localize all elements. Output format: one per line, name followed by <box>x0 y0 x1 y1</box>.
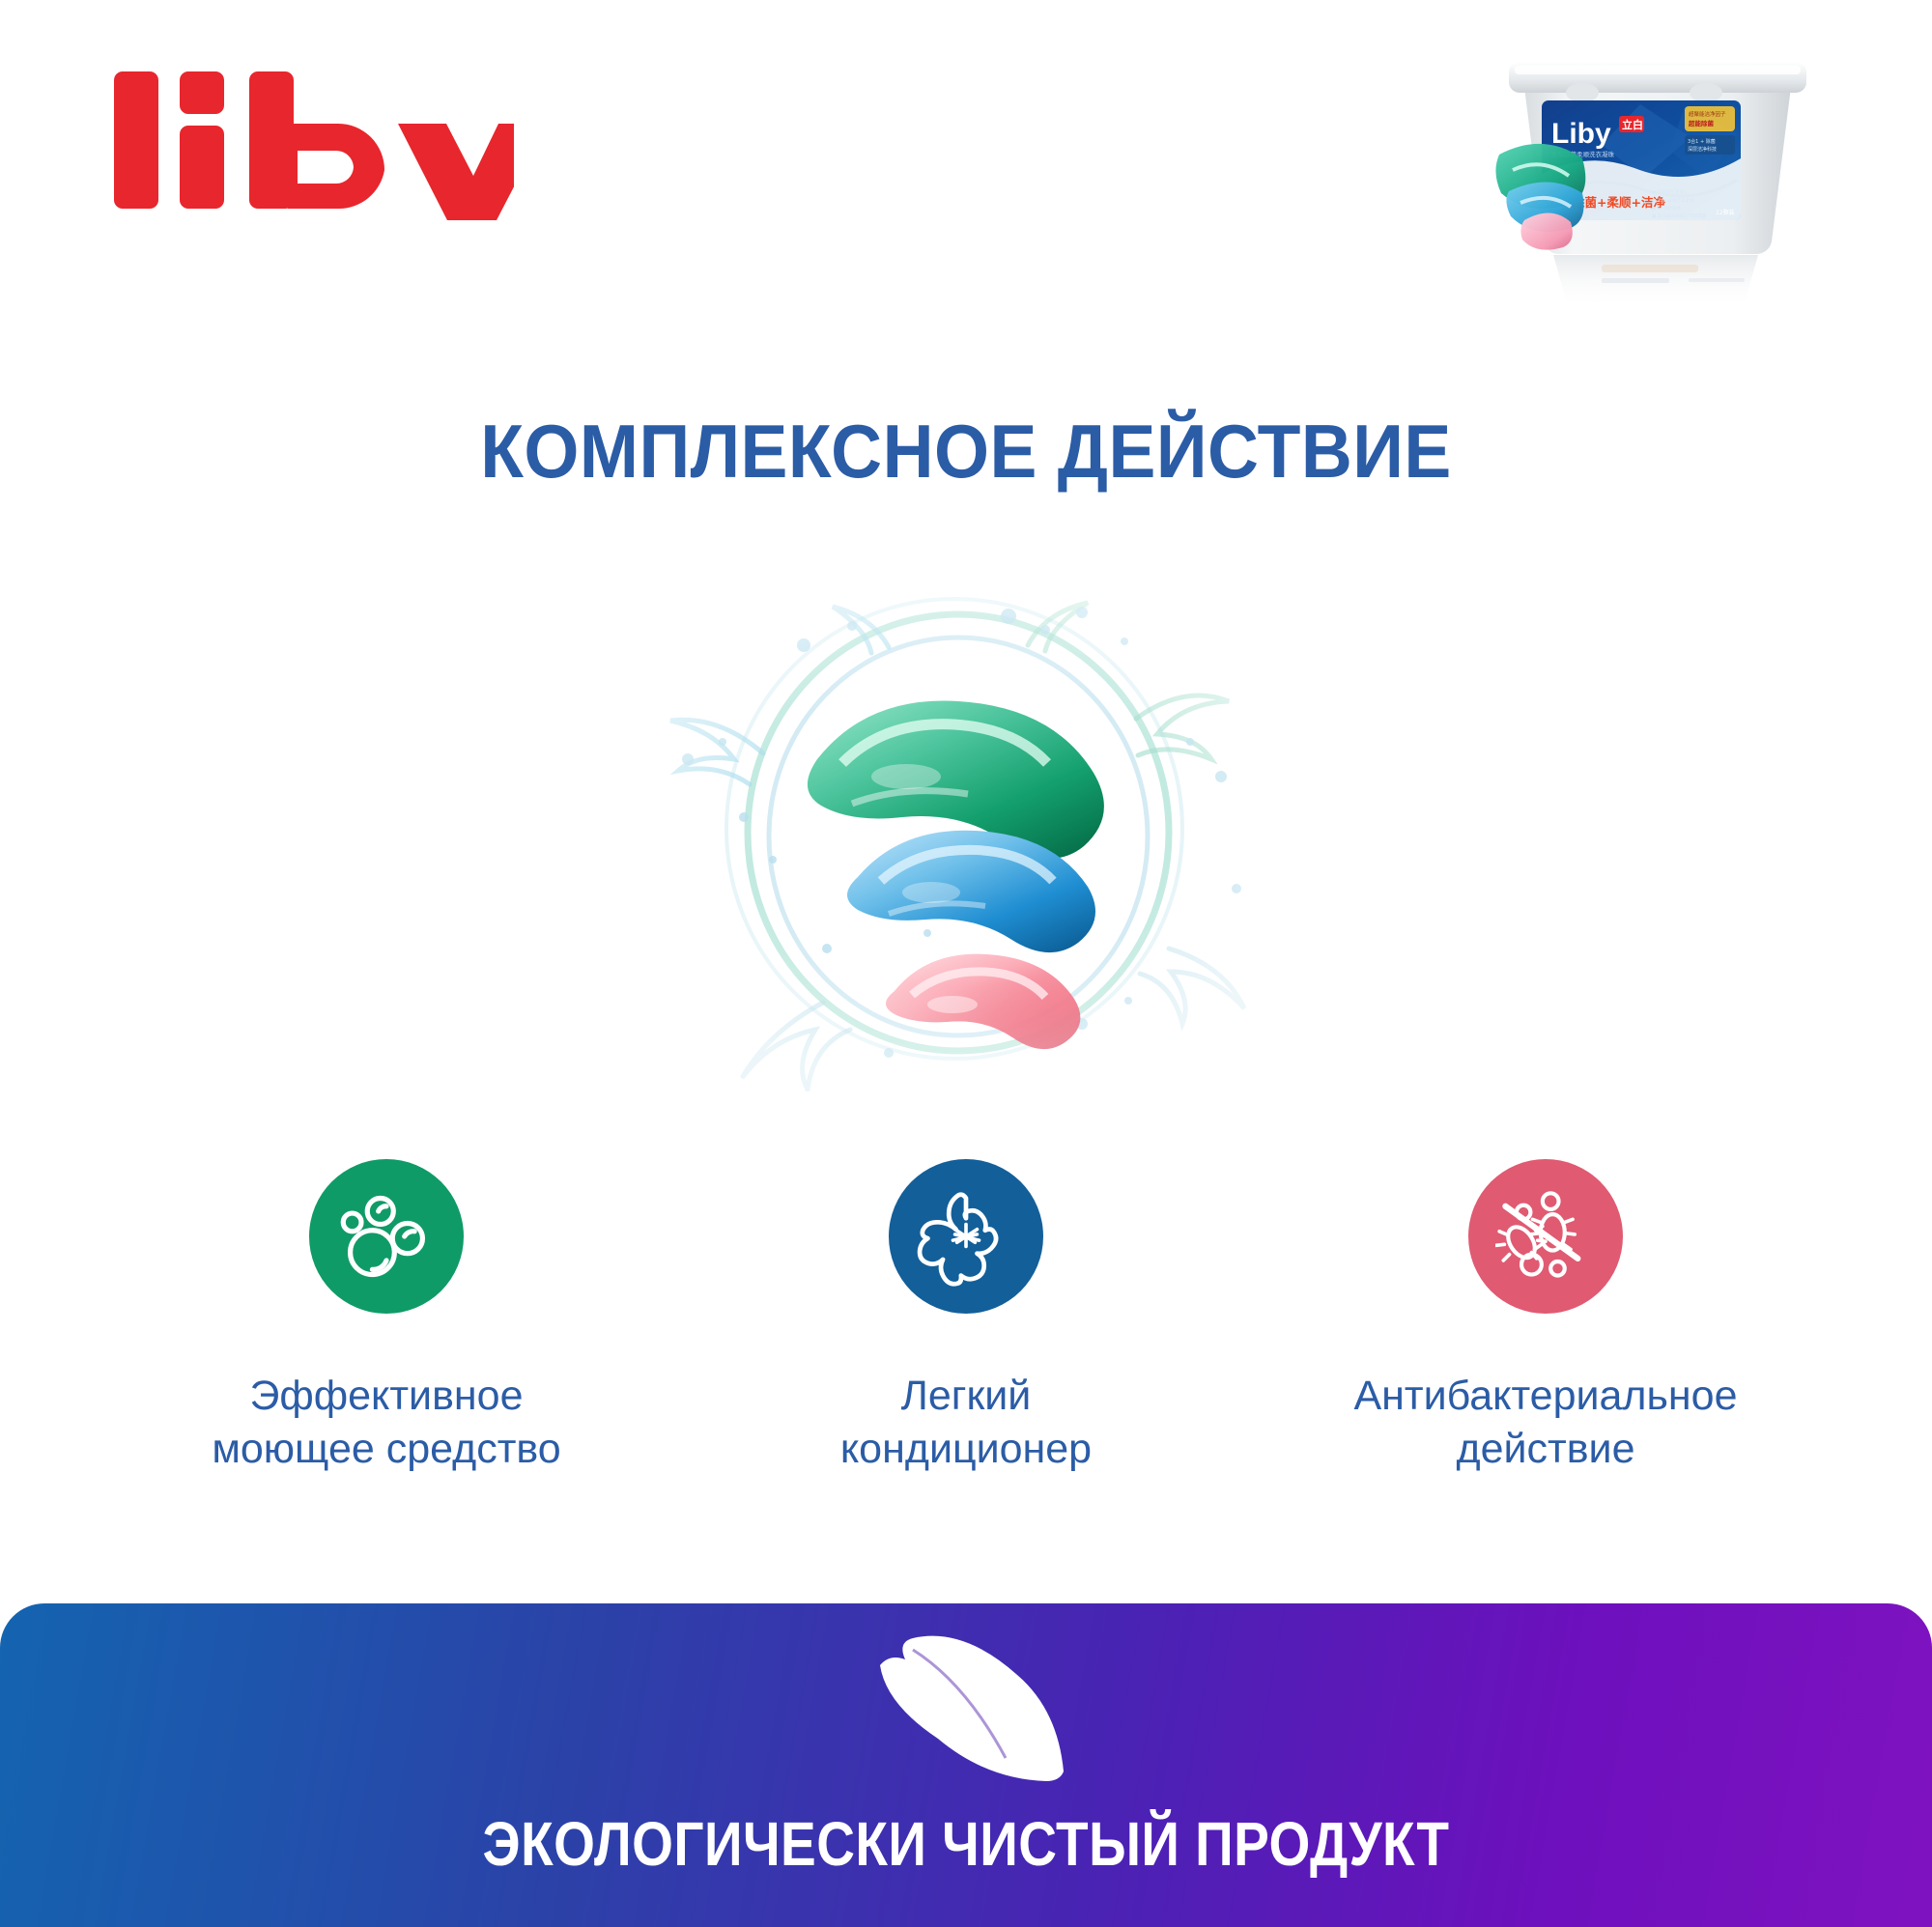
svg-text:超聚能洁净因子: 超聚能洁净因子 <box>1689 110 1726 118</box>
bubbles-icon <box>336 1186 437 1287</box>
tub-front-pods <box>1495 144 1585 250</box>
flower-icon-circle <box>889 1159 1043 1314</box>
hero-pods-splash-image <box>599 570 1314 1091</box>
svg-text:深层洁净科技: 深层洁净科技 <box>1688 146 1717 153</box>
tub-label-cn-brand: 立白 <box>1622 118 1643 131</box>
feature-label-antibacterial: Антибактериальное действие <box>1353 1370 1737 1476</box>
leaf-icon <box>865 1625 1067 1803</box>
flower-icon <box>916 1186 1016 1287</box>
svg-text:■ 3合1凝珠洁净柔顺: ■ 3合1凝珠洁净柔顺 <box>1652 197 1694 204</box>
feature-item-antibacterial: Антибактериальное действие <box>1275 1159 1816 1476</box>
svg-text:3合1 + 除菌: 3合1 + 除菌 <box>1688 138 1716 145</box>
feature-label-conditioner: Легкий кондиционер <box>840 1370 1092 1476</box>
no-bacteria-icon <box>1495 1186 1596 1287</box>
tub-label-brand: Liby <box>1551 118 1611 150</box>
feature-list: Эффективное моющее средство <box>116 1159 1816 1476</box>
infographic-page: Liby 立白 香味除菌柔顺洗衣凝珠 超聚能洁净因子 超能除菌 3合1 + 除菌… <box>0 0 1932 1927</box>
product-tub-image: Liby 立白 香味除菌柔顺洗衣凝珠 超聚能洁净因子 超能除菌 3合1 + 除菌… <box>1495 46 1824 336</box>
feature-item-conditioner: Легкий кондиционер <box>696 1159 1236 1476</box>
svg-text:■ 高浓缩浓缩配方节约用量: ■ 高浓缩浓缩配方节约用量 <box>1652 213 1707 219</box>
svg-text:超能除菌: 超能除菌 <box>1688 119 1715 128</box>
feature-label-detergent: Эффективное моющее средство <box>212 1370 560 1476</box>
feature-item-detergent: Эффективное моющее средство <box>116 1159 657 1476</box>
page-title: КОМПЛЕКСНОЕ ДЕЙСТВИЕ <box>58 413 1874 489</box>
eco-banner-text: ЭКОЛОГИЧЕСКИ ЧИСТЫЙ ПРОДУКТ <box>135 1808 1797 1880</box>
svg-text:12颗装: 12颗装 <box>1716 209 1735 216</box>
no-bacteria-icon-circle <box>1468 1159 1623 1314</box>
bubbles-icon-circle <box>309 1159 464 1314</box>
svg-text:■ 12小时留香: ■ 12小时留香 <box>1652 205 1681 212</box>
liby-logo <box>108 66 514 220</box>
eco-banner: ЭКОЛОГИЧЕСКИ ЧИСТЫЙ ПРОДУКТ <box>0 1603 1932 1927</box>
svg-text:◉ 无磷配方更安心: ◉ 无磷配方更安心 <box>1652 188 1689 195</box>
